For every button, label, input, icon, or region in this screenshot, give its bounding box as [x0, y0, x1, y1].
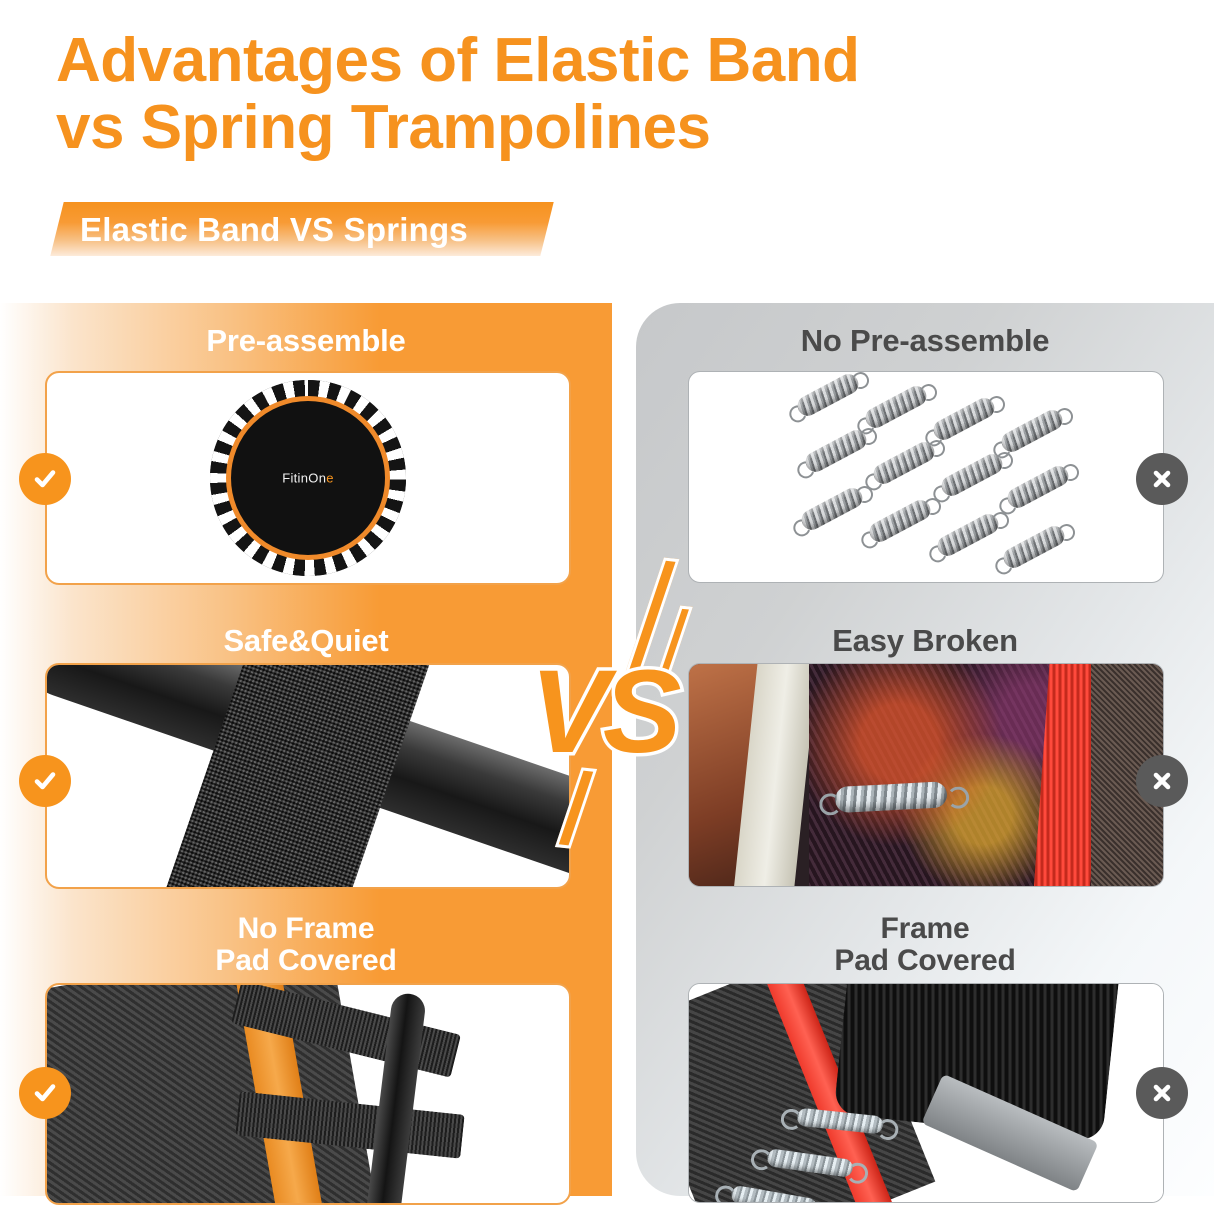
loose-springs-image — [689, 372, 1163, 582]
right-row-3-caption: Frame Pad Covered — [636, 899, 1214, 977]
infographic-page: Advantages of Elastic Band vs Spring Tra… — [0, 0, 1214, 1214]
close-icon — [1136, 755, 1188, 807]
check-icon — [19, 1067, 71, 1119]
subtitle-ribbon-label: Elastic Band VS Springs — [80, 205, 550, 255]
page-title: Advantages of Elastic Band vs Spring Tra… — [56, 28, 1056, 162]
left-row-1-caption: Pre-assemble — [0, 303, 612, 358]
right-row-3-caption-line-2: Pad Covered — [636, 945, 1214, 977]
brand-logo-accent: e — [326, 471, 334, 486]
right-row-easy-broken: Easy Broken — [636, 603, 1214, 899]
spring-panel: No Pre-assemble — [636, 303, 1214, 1196]
right-row-1-image-card — [688, 371, 1164, 583]
left-row-pre-assemble: Pre-assemble FitinOne — [0, 303, 612, 603]
right-row-2-image-card — [688, 663, 1164, 887]
brand-logo-text: FitinOn — [282, 471, 326, 486]
left-row-3-caption-line-1: No Frame — [0, 913, 612, 945]
left-row-no-frame-pad: No Frame Pad Covered — [0, 899, 612, 1196]
close-icon — [1136, 453, 1188, 505]
page-title-line-2: vs Spring Trampolines — [56, 95, 1056, 162]
left-row-3-caption: No Frame Pad Covered — [0, 899, 612, 977]
close-icon — [1136, 1067, 1188, 1119]
right-row-3-image-card — [688, 983, 1164, 1203]
worn-trampoline-image — [689, 664, 1163, 886]
brand-logo: FitinOne — [210, 471, 406, 486]
trampoline-top-view-image: FitinOne — [47, 373, 569, 583]
orange-edged-mat-image — [47, 985, 569, 1203]
left-row-3-image-card — [45, 983, 571, 1205]
trampoline-body: FitinOne — [210, 380, 406, 576]
left-row-safe-quiet: Safe&Quiet — [0, 603, 612, 899]
left-row-3-caption-line-2: Pad Covered — [0, 945, 612, 977]
left-row-1-image-card: FitinOne — [45, 371, 571, 585]
right-row-no-pre-assemble: No Pre-assemble — [636, 303, 1214, 603]
elastic-band-panel: Pre-assemble FitinOne Safe&Quiet — [0, 303, 612, 1196]
right-row-frame-pad: Frame Pad Covered — [636, 899, 1214, 1196]
right-row-2-caption: Easy Broken — [636, 603, 1214, 658]
left-row-2-image-card — [45, 663, 571, 889]
frame-pad-covered-image — [689, 984, 1163, 1202]
left-row-2-caption: Safe&Quiet — [0, 603, 612, 658]
right-row-3-caption-line-1: Frame — [636, 913, 1214, 945]
strap-on-tube-image — [47, 665, 569, 887]
check-icon — [19, 453, 71, 505]
page-title-line-1: Advantages of Elastic Band — [56, 26, 860, 95]
check-icon — [19, 755, 71, 807]
right-row-1-caption: No Pre-assemble — [636, 303, 1214, 358]
